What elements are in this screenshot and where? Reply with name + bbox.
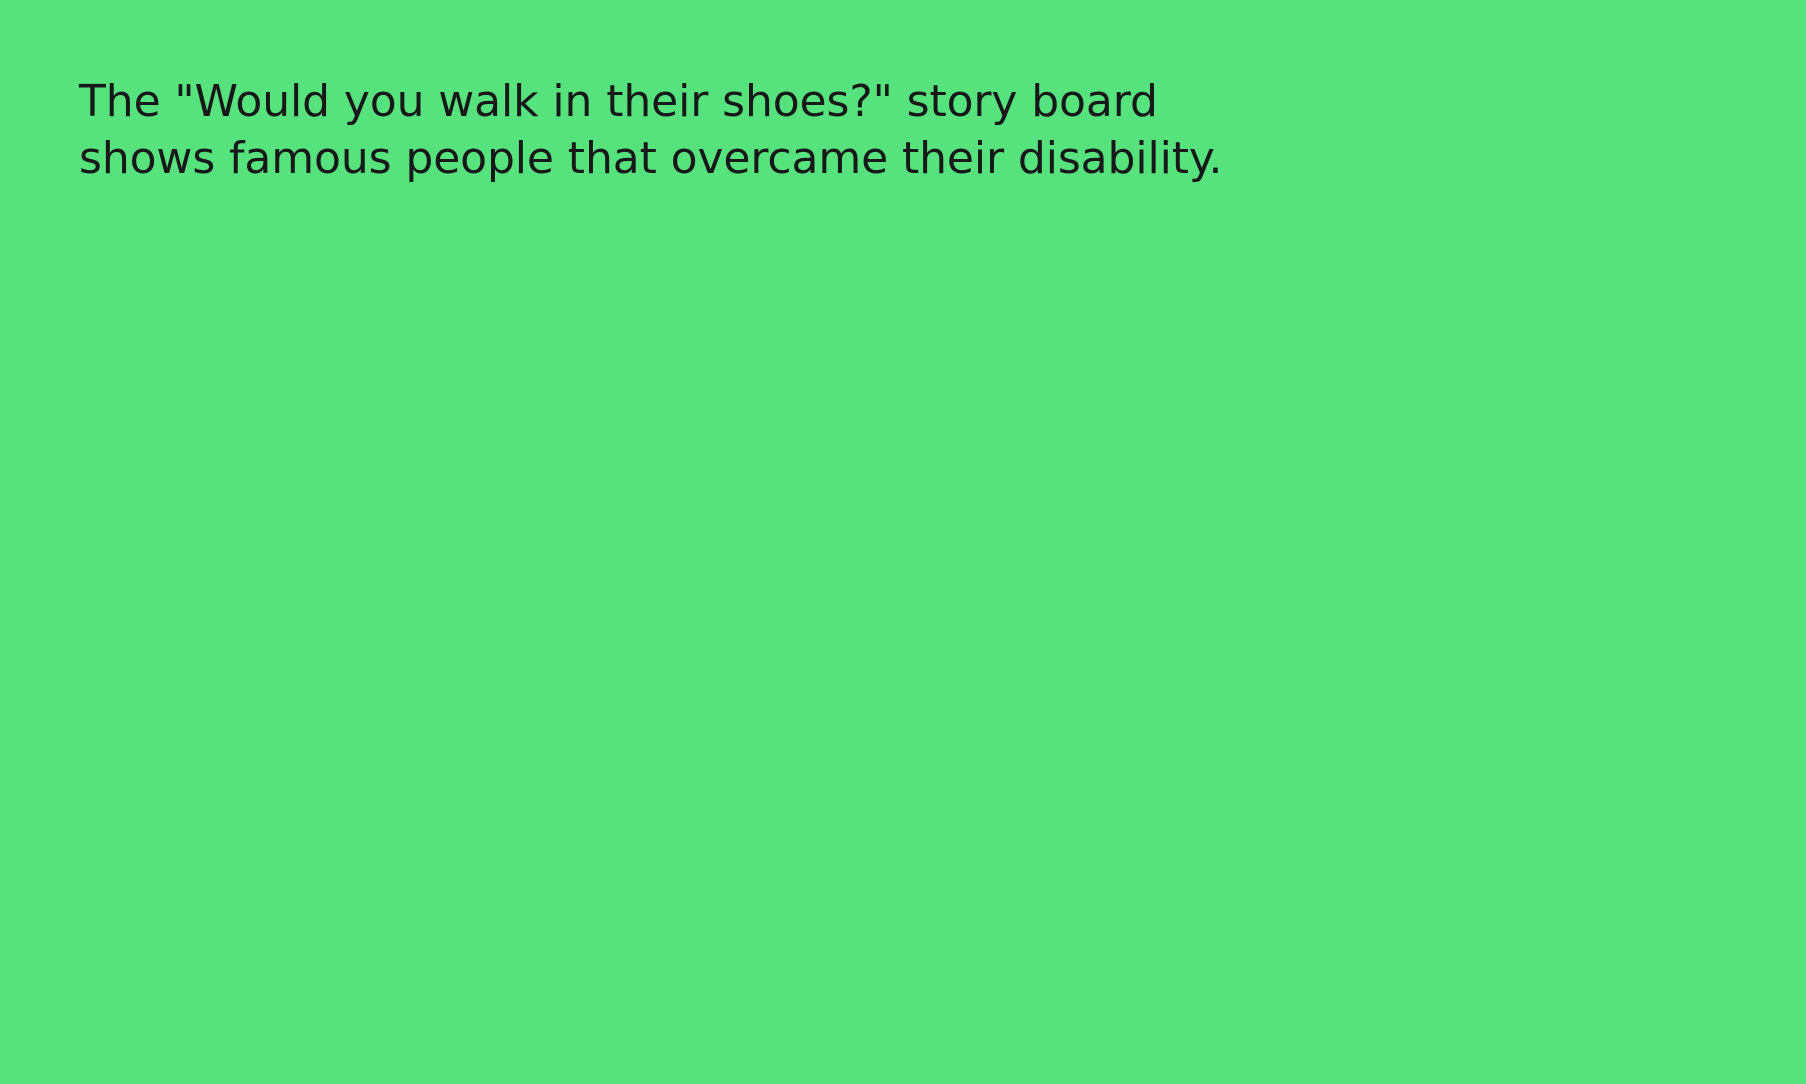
caption-line-1: The "Would you walk in their shoes?" sto… — [79, 73, 1259, 130]
caption-block: The "Would you walk in their shoes?" sto… — [79, 73, 1259, 187]
slide-canvas: The "Would you walk in their shoes?" sto… — [0, 0, 1806, 1084]
caption-line-2: shows famous people that overcame their … — [79, 130, 1259, 187]
